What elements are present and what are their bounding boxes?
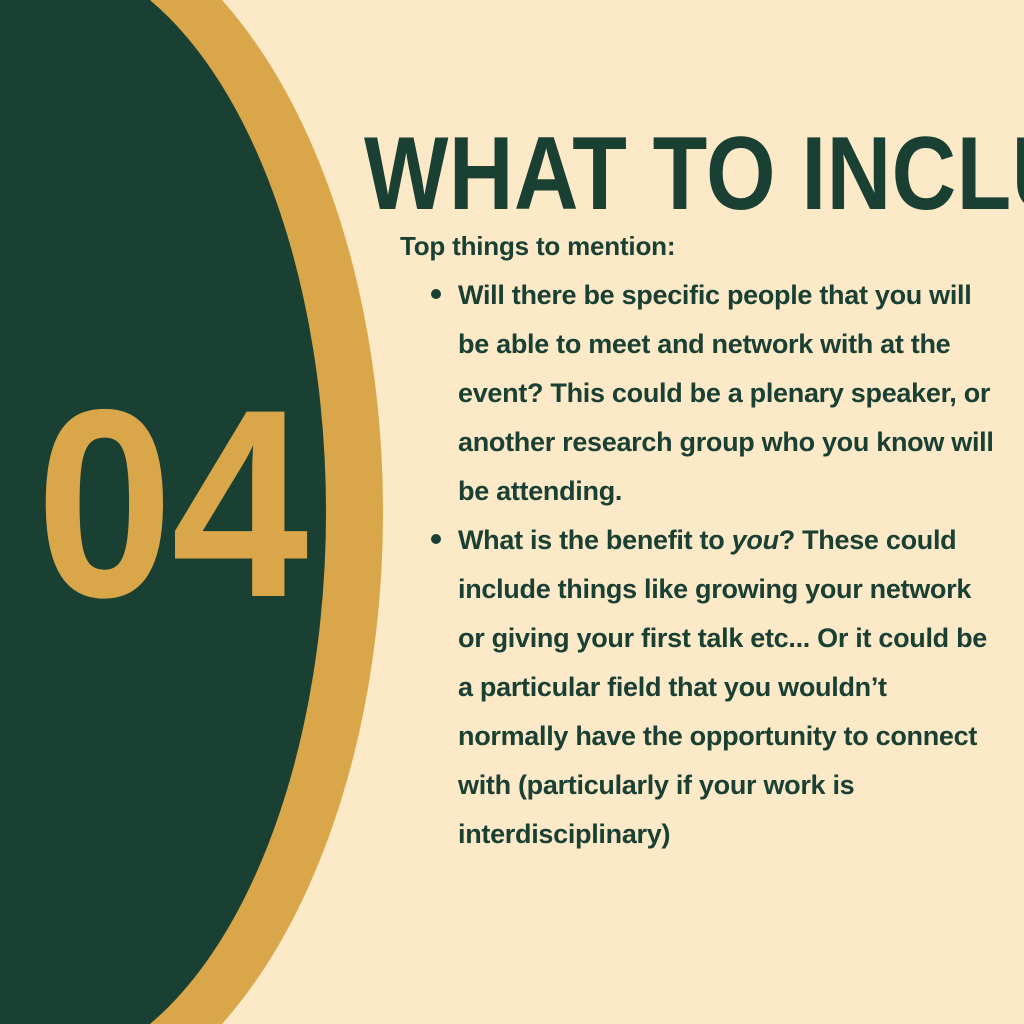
- list-item: What is the benefit to you? These could …: [400, 516, 1000, 859]
- list-item-text: Will there be specific people that you w…: [458, 280, 994, 506]
- intro-label: Top things to mention:: [400, 222, 1000, 271]
- bullet-dot-icon: [431, 534, 441, 544]
- step-number: 04: [36, 368, 266, 638]
- list-item-text: What is the benefit to you? These could …: [458, 525, 987, 849]
- slide-canvas: 04 WHAT TO INCLUDE Top things to mention…: [0, 0, 1024, 1024]
- bullet-dot-icon: [431, 289, 441, 299]
- body-content: Top things to mention: Will there be spe…: [400, 222, 1000, 859]
- list-item: Will there be specific people that you w…: [400, 271, 1000, 516]
- page-title: WHAT TO INCLUDE: [364, 122, 880, 226]
- bullet-list: Will there be specific people that you w…: [400, 271, 1000, 859]
